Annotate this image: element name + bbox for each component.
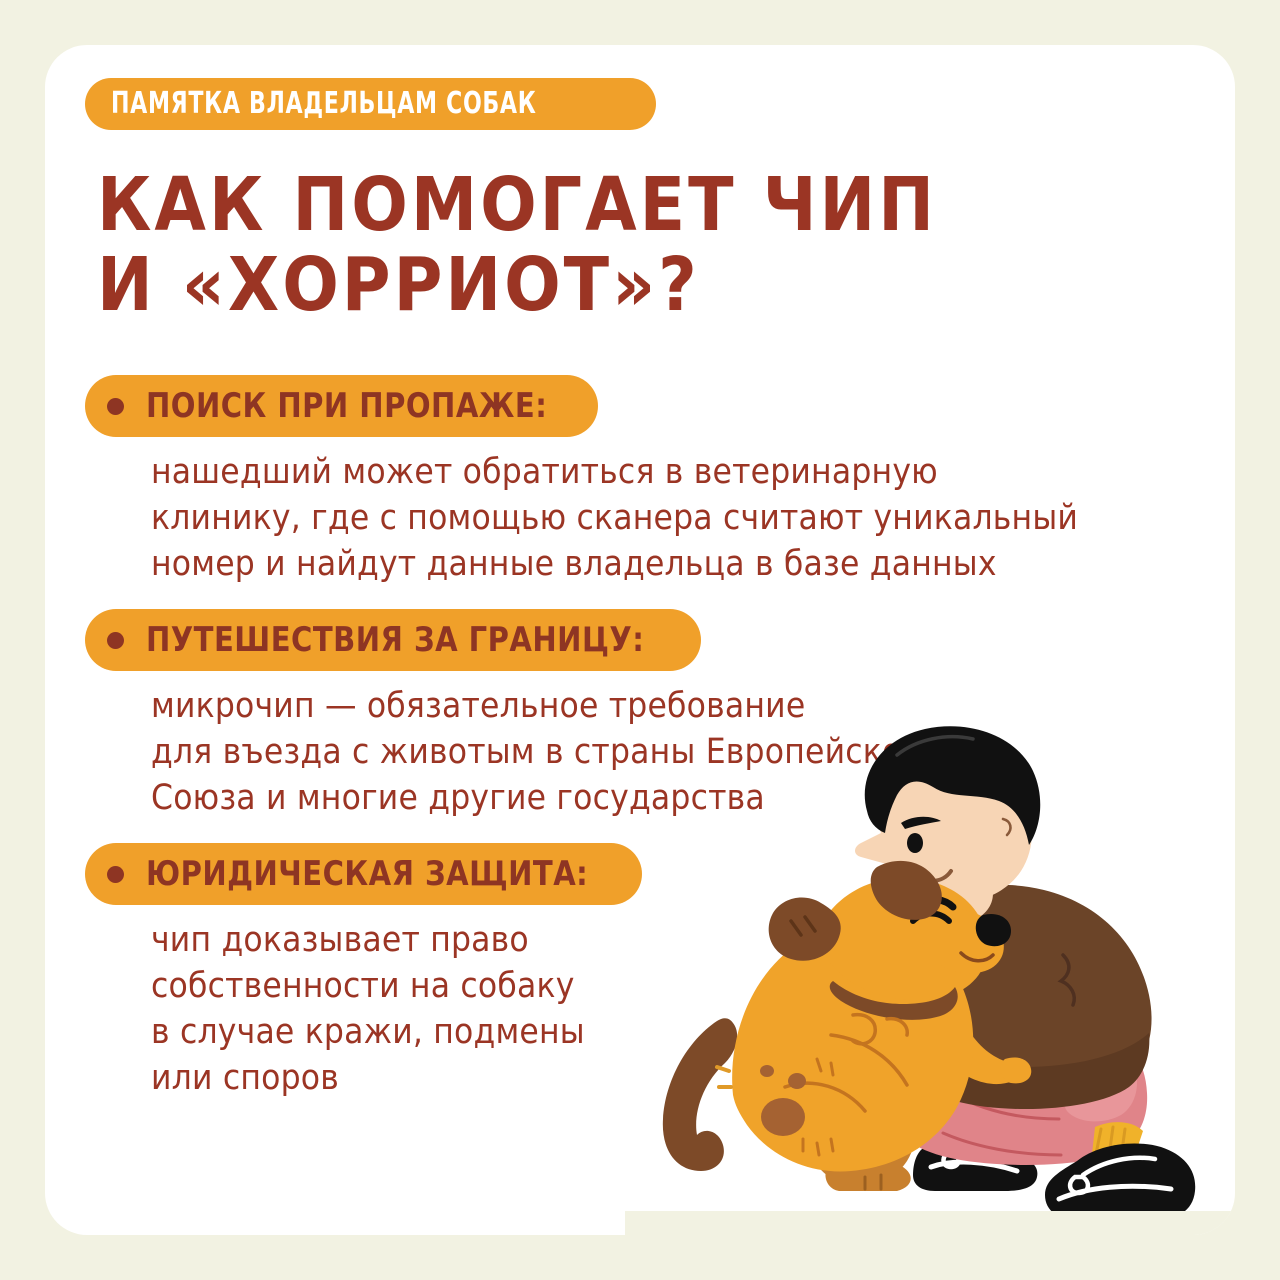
page-title-line-1: КАК ПОМОГАЕТ ЧИП (97, 165, 937, 245)
illustration-man-and-dog (625, 715, 1235, 1235)
benefit-body-line: номер и найдут данные владельца в базе д… (151, 541, 1205, 587)
benefit-item-search: ПОИСК ПРИ ПРОПАЖЕ: нашедший может обрати… (85, 375, 1205, 587)
dog-tail (663, 1018, 737, 1171)
benefit-heading-label-legal: ЮРИДИЧЕСКАЯ ЗАЩИТА: (146, 857, 588, 891)
bullet-dot-icon (107, 398, 124, 415)
page-title: КАК ПОМОГАЕТ ЧИП И «ХОРРИОТ»? (97, 165, 937, 325)
benefit-heading-label-travel: ПУТЕШЕСТВИЯ ЗА ГРАНИЦУ: (146, 623, 644, 657)
dog-spot (761, 1098, 805, 1136)
page-title-line-2: И «ХОРРИОТ»? (97, 245, 937, 325)
dog-spot (760, 1065, 774, 1077)
man-eye (907, 833, 923, 853)
benefit-heading-pill-legal: ЮРИДИЧЕСКАЯ ЗАЩИТА: (85, 843, 642, 905)
category-badge: ПАМЯТКА ВЛАДЕЛЬЦАМ СОБАК (85, 78, 656, 130)
benefit-body-line: клинику, где с помощью сканера считают у… (151, 495, 1205, 541)
bullet-dot-icon (107, 632, 124, 649)
benefit-heading-label-search: ПОИСК ПРИ ПРОПАЖЕ: (146, 389, 547, 423)
category-badge-label: ПАМЯТКА ВЛАДЕЛЬЦАМ СОБАК (111, 89, 536, 119)
content-card: ПАМЯТКА ВЛАДЕЛЬЦАМ СОБАК КАК ПОМОГАЕТ ЧИ… (45, 45, 1235, 1235)
benefit-heading-pill-travel: ПУТЕШЕСТВИЯ ЗА ГРАНИЦУ: (85, 609, 701, 671)
benefit-body-search: нашедший может обратиться в ветеринарную… (151, 449, 1205, 587)
benefit-heading-pill-search: ПОИСК ПРИ ПРОПАЖЕ: (85, 375, 598, 437)
bullet-dot-icon (107, 866, 124, 883)
dog-spot (788, 1073, 806, 1089)
benefit-body-line: нашедший может обратиться в ветеринарную (151, 449, 1205, 495)
infographic-page: ПАМЯТКА ВЛАДЕЛЬЦАМ СОБАК КАК ПОМОГАЕТ ЧИ… (0, 0, 1280, 1280)
ground-strip (625, 1211, 1235, 1235)
